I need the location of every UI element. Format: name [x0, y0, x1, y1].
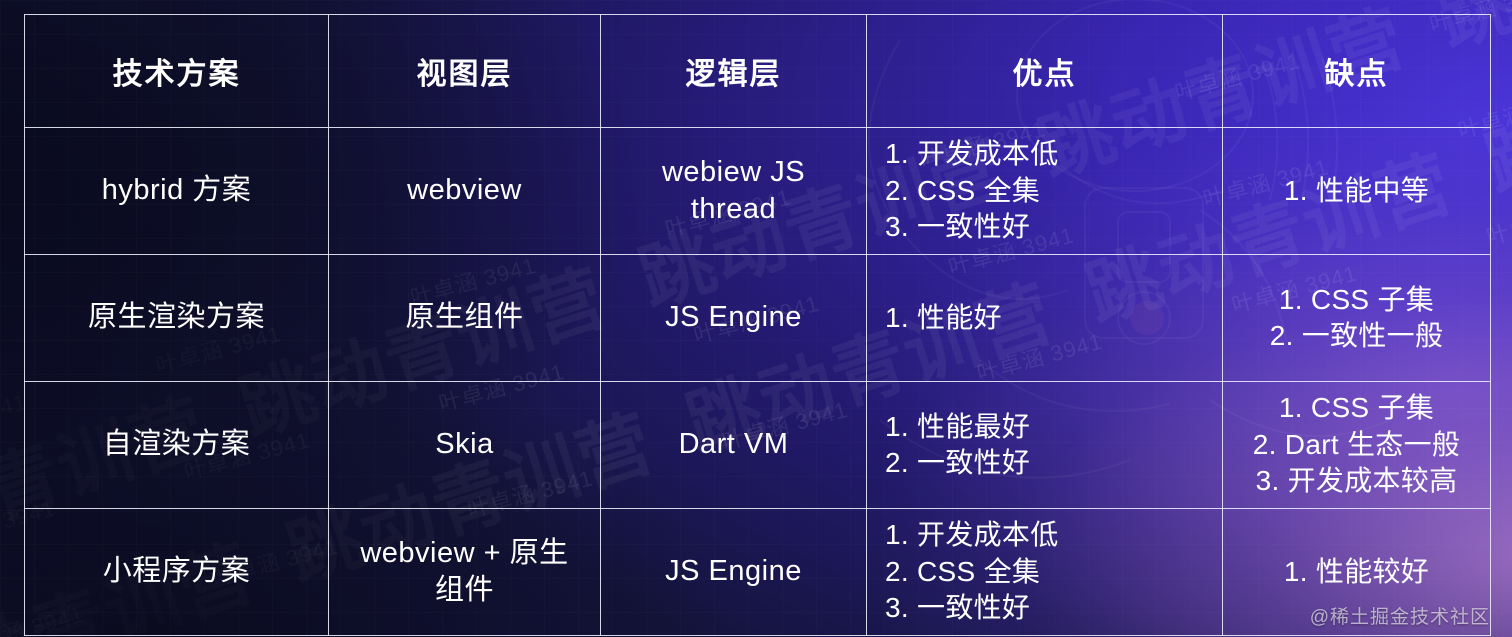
cell-logic-layer: JS Engine: [601, 255, 867, 382]
table-row: 原生渲染方案 原生组件 JS Engine 1. 性能好 1. CSS 子集 2…: [25, 255, 1491, 382]
pros-item: 1. 开发成本低: [885, 136, 1212, 172]
cell-cons: 1. 性能中等: [1223, 128, 1491, 255]
cons-item: 2. 一致性一般: [1233, 318, 1480, 354]
cell-view-layer: 原生组件: [329, 255, 601, 382]
table-row: 小程序方案 webview + 原生组件 JS Engine 1. 开发成本低 …: [25, 509, 1491, 636]
cell-view-layer: webview: [329, 128, 601, 255]
cell-solution: hybrid 方案: [25, 128, 329, 255]
cons-item: 1. CSS 子集: [1233, 390, 1480, 426]
cell-logic-layer: webiew JSthread: [601, 128, 867, 255]
table-row: 自渲染方案 Skia Dart VM 1. 性能最好 2. 一致性好 1. CS…: [25, 382, 1491, 509]
pros-item: 3. 一致性好: [885, 590, 1212, 626]
column-header-view-layer: 视图层: [329, 15, 601, 128]
cell-solution: 自渲染方案: [25, 382, 329, 509]
cons-item: 1. CSS 子集: [1233, 282, 1480, 318]
pros-item: 3. 一致性好: [885, 209, 1212, 245]
cell-logic-layer: Dart VM: [601, 382, 867, 509]
pros-item: 1. 开发成本低: [885, 517, 1212, 553]
cons-item: 2. Dart 生态一般: [1233, 427, 1480, 463]
cell-pros: 1. 性能好: [867, 255, 1223, 382]
cell-pros: 1. 开发成本低 2. CSS 全集 3. 一致性好: [867, 128, 1223, 255]
cons-item: 3. 开发成本较高: [1233, 463, 1480, 499]
cell-solution: 小程序方案: [25, 509, 329, 636]
cell-cons: 1. CSS 子集 2. 一致性一般: [1223, 255, 1491, 382]
cell-view-layer: webview + 原生组件: [329, 509, 601, 636]
cell-pros: 1. 开发成本低 2. CSS 全集 3. 一致性好: [867, 509, 1223, 636]
cell-view-layer: Skia: [329, 382, 601, 509]
table-header-row: 技术方案 视图层 逻辑层 优点 缺点: [25, 15, 1491, 128]
cell-solution: 原生渲染方案: [25, 255, 329, 382]
pros-item: 1. 性能最好: [885, 409, 1212, 445]
comparison-table: 技术方案 视图层 逻辑层 优点 缺点 hybrid 方案 webview web…: [24, 14, 1491, 636]
column-header-logic-layer: 逻辑层: [601, 15, 867, 128]
pros-item: 1. 性能好: [885, 300, 1212, 336]
table-row: hybrid 方案 webview webiew JSthread 1. 开发成…: [25, 128, 1491, 255]
column-header-solution: 技术方案: [25, 15, 329, 128]
cell-cons: 1. CSS 子集 2. Dart 生态一般 3. 开发成本较高: [1223, 382, 1491, 509]
pros-item: 2. CSS 全集: [885, 554, 1212, 590]
comparison-table-wrapper: 技术方案 视图层 逻辑层 优点 缺点 hybrid 方案 webview web…: [24, 14, 1490, 606]
cell-logic-layer: JS Engine: [601, 509, 867, 636]
pros-item: 2. 一致性好: [885, 445, 1212, 481]
column-header-cons: 缺点: [1223, 15, 1491, 128]
pros-item: 2. CSS 全集: [885, 173, 1212, 209]
cons-item: 1. 性能中等: [1233, 173, 1480, 209]
source-watermark: @稀土掘金技术社区: [1310, 602, 1490, 629]
cell-pros: 1. 性能最好 2. 一致性好: [867, 382, 1223, 509]
slide-canvas: 跳动青训营 跳动青训营 跳动青训营 跳动青训营 跳动青训营 跳动青训营 跳动青训…: [0, 0, 1512, 637]
column-header-pros: 优点: [867, 15, 1223, 128]
cons-item: 1. 性能较好: [1233, 554, 1480, 590]
